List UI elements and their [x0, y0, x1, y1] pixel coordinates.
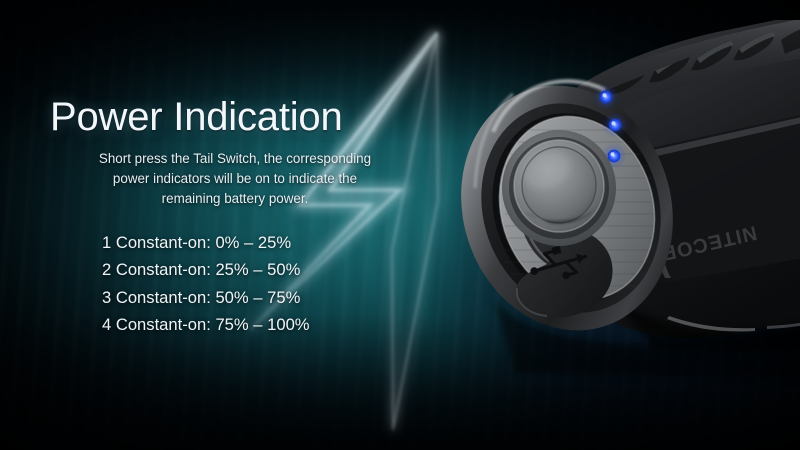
list-item: 2 Constant-on: 25% – 50%	[102, 256, 430, 284]
list-item: 4 Constant-on: 75% – 100%	[102, 311, 430, 339]
page-title: Power Indication	[50, 96, 430, 138]
text-block: Power Indication Short press the Tail Sw…	[40, 96, 430, 339]
promo-banner: Power Indication Short press the Tail Sw…	[0, 0, 800, 450]
subtitle-line-2: power indicators will be on to indicate …	[113, 171, 357, 186]
subtitle-line-3: remaining battery power.	[162, 191, 309, 206]
subtitle-line-1: Short press the Tail Switch, the corresp…	[99, 151, 371, 166]
list-item: 1 Constant-on: 0% – 25%	[102, 229, 430, 257]
list-item: 3 Constant-on: 50% – 75%	[102, 284, 430, 312]
power-indication-list: 1 Constant-on: 0% – 25% 2 Constant-on: 2…	[40, 229, 430, 339]
page-subtitle: Short press the Tail Switch, the corresp…	[40, 149, 430, 208]
